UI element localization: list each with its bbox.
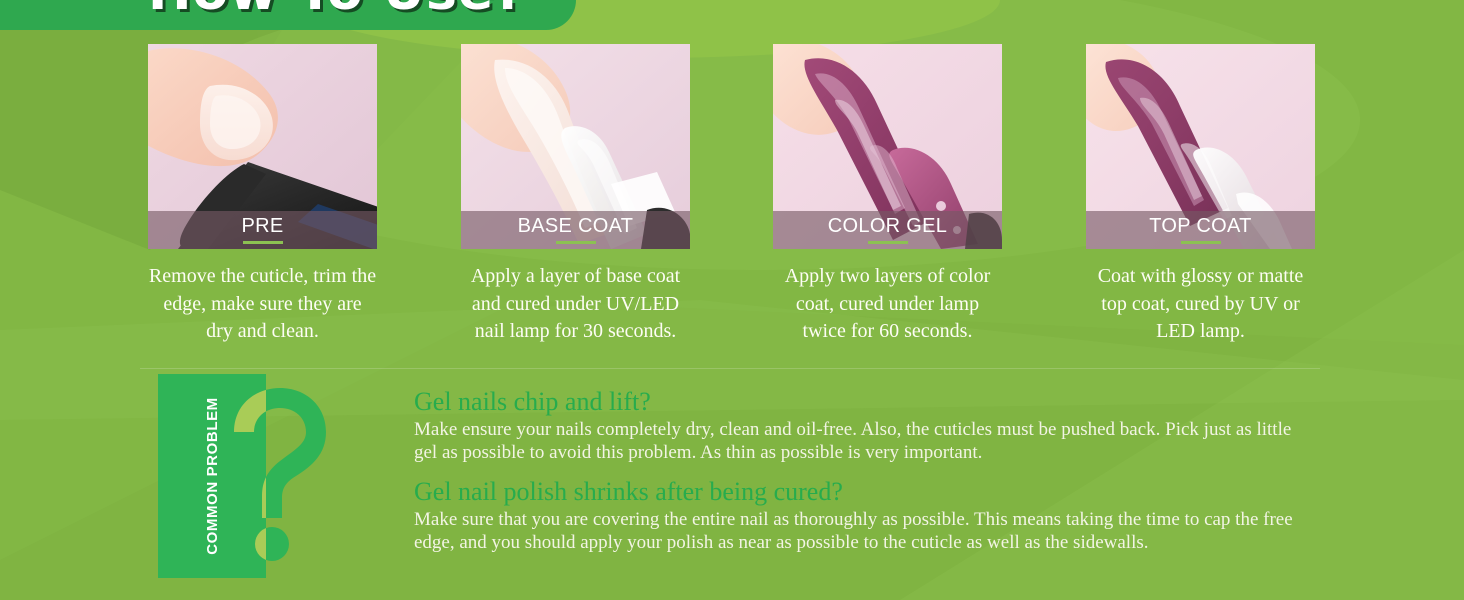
faq-item: Gel nails chip and lift? Make ensure you… xyxy=(414,386,1314,464)
step-label-underline xyxy=(1181,241,1221,244)
step-figure: TOP COAT xyxy=(1086,44,1315,249)
question-mark-glyph xyxy=(222,386,332,566)
step-figure: PRE xyxy=(148,44,377,249)
faq-question: Gel nail polish shrinks after being cure… xyxy=(414,476,1314,507)
step-label-bar: BASE COAT xyxy=(461,211,690,249)
step-card-color-gel: COLOR GEL Apply two layers of color coat… xyxy=(773,44,1002,346)
step-label-bar: PRE xyxy=(148,211,377,249)
step-label-underline xyxy=(868,241,908,244)
step-label: PRE xyxy=(241,216,283,236)
step-label-bar: COLOR GEL xyxy=(773,211,1002,249)
step-label: COLOR GEL xyxy=(828,216,947,236)
how-to-use-infographic: How To Use? xyxy=(0,0,1464,600)
step-label-bar: TOP COAT xyxy=(1086,211,1315,249)
step-figure: COLOR GEL xyxy=(773,44,1002,249)
step-card-top-coat: TOP COAT Coat with glossy or matte top c… xyxy=(1086,44,1315,346)
step-label-underline xyxy=(556,241,596,244)
page-title: How To Use? xyxy=(148,0,525,22)
question-mark-icon xyxy=(222,386,332,566)
step-card-base-coat: BASE COAT Apply a layer of base coat and… xyxy=(461,44,690,346)
faq-list: Gel nails chip and lift? Make ensure you… xyxy=(414,386,1314,566)
faq-question: Gel nails chip and lift? xyxy=(414,386,1314,417)
faq-answer: Make sure that you are covering the enti… xyxy=(414,509,1314,554)
faq-item: Gel nail polish shrinks after being cure… xyxy=(414,476,1314,554)
step-label: BASE COAT xyxy=(518,216,634,236)
step-label-underline xyxy=(243,241,283,244)
step-card-pre: PRE Remove the cuticle, trim the edge, m… xyxy=(148,44,377,346)
step-caption: Apply two layers of color coat, cured un… xyxy=(773,263,1002,346)
faq-answer: Make ensure your nails completely dry, c… xyxy=(414,419,1314,464)
section-divider xyxy=(140,368,1320,369)
step-label: TOP COAT xyxy=(1149,216,1251,236)
step-figure: BASE COAT xyxy=(461,44,690,249)
step-caption: Remove the cuticle, trim the edge, make … xyxy=(148,263,377,346)
step-caption: Coat with glossy or matte top coat, cure… xyxy=(1086,263,1315,346)
step-caption: Apply a layer of base coat and cured und… xyxy=(461,263,690,346)
